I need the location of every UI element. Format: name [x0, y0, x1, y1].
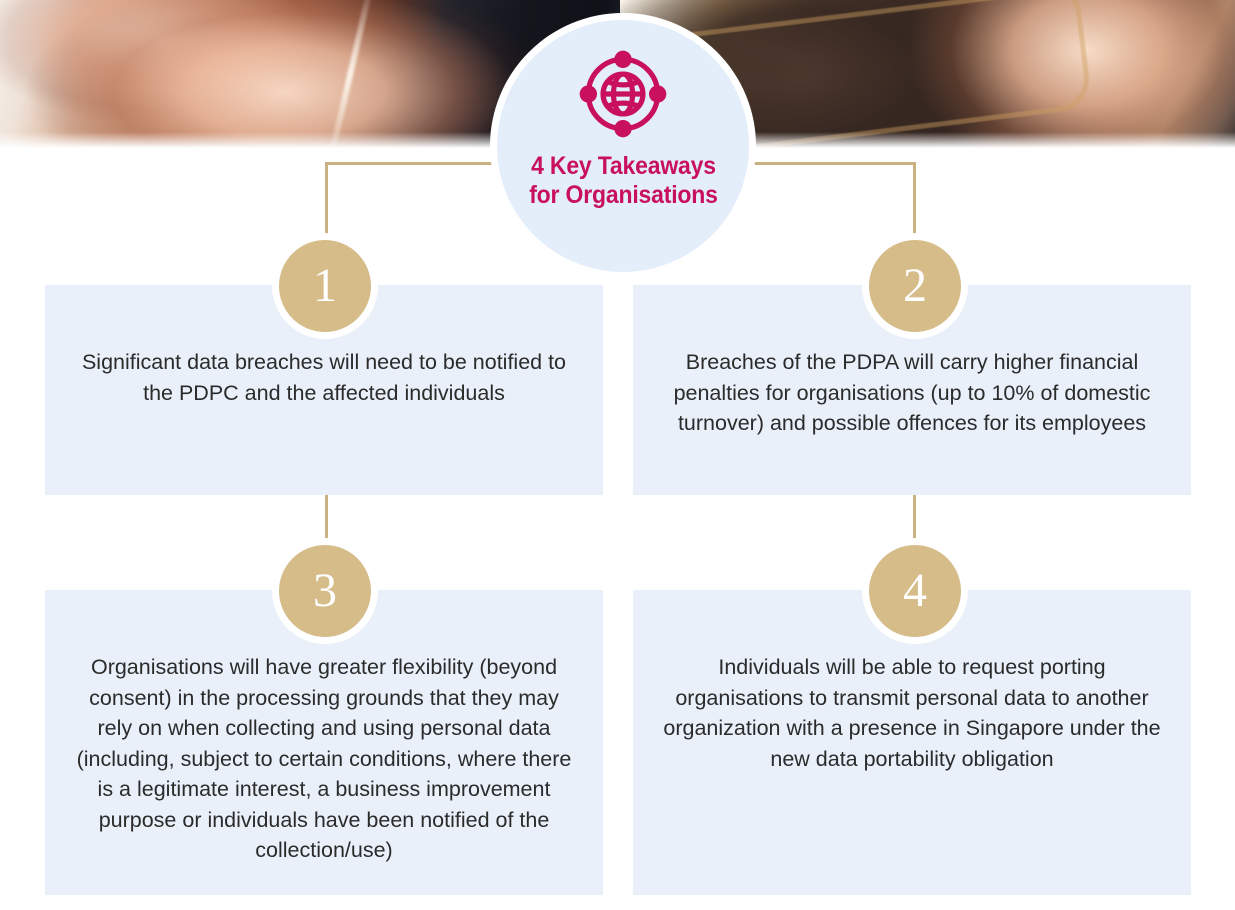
- number-badge-4: 4: [869, 545, 961, 637]
- globe-network-icon: [571, 42, 675, 146]
- hub-title-line-2: for Organisations: [529, 181, 718, 210]
- hub-title: 4 Key Takeaways for Organisations: [529, 152, 718, 210]
- number-badge-2: 2: [869, 240, 961, 332]
- number-badge-1: 1: [279, 240, 371, 332]
- central-hub: 4 Key Takeaways for Organisations: [497, 20, 749, 272]
- hub-title-line-1: 4 Key Takeaways: [529, 152, 718, 181]
- number-badge-3: 3: [279, 545, 371, 637]
- infographic-page: 4 Key Takeaways for Organisations 1 2 3 …: [0, 0, 1235, 910]
